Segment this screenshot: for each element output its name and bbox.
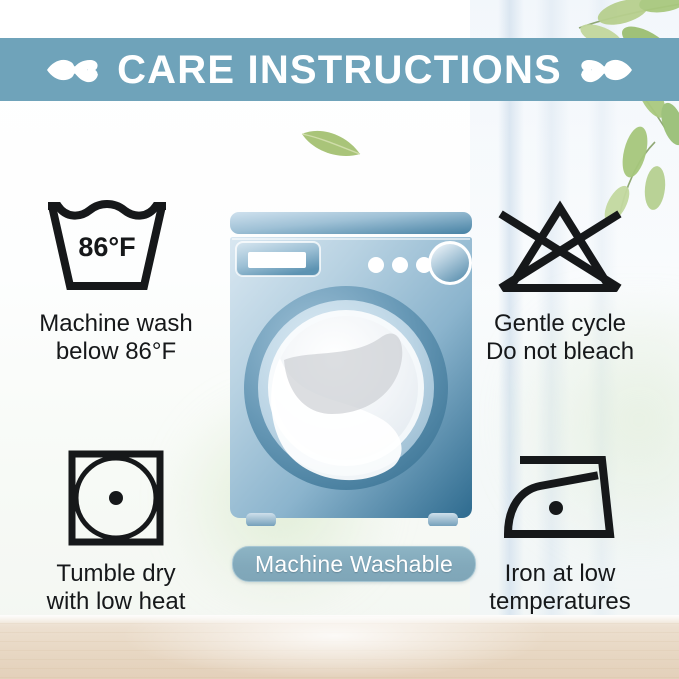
- wash-temperature-label: 86°F: [78, 232, 135, 262]
- wash-tub-symbol: 86°F: [40, 192, 192, 304]
- washer-top-lid: [230, 212, 472, 234]
- crossed-triangle-do-not-bleach-icon: [484, 196, 636, 300]
- floating-leaf-icon: [300, 124, 362, 160]
- do-not-bleach-symbol: [484, 192, 636, 304]
- care-caption: Tumble dry with low heat: [47, 560, 186, 616]
- leaf-cluster-icon: [505, 0, 679, 222]
- tumble-dry-low-heat-icon: [64, 446, 168, 550]
- care-item-tumble-dry: Tumble dry with low heat: [8, 442, 224, 616]
- care-caption: Gentle cycle Do not bleach: [486, 310, 634, 366]
- care-item-do-not-bleach: Gentle cycle Do not bleach: [452, 192, 668, 366]
- page-title: CARE INSTRUCTIONS: [117, 50, 562, 90]
- tumble-dry-symbol: [64, 442, 168, 554]
- washer-detergent-drawer: [236, 242, 320, 276]
- iron-symbol: [494, 442, 626, 554]
- washer-door: [244, 286, 448, 490]
- washer-control-buttons: [368, 257, 432, 273]
- care-item-iron: Iron at low temperatures: [452, 442, 668, 616]
- badge-label: Machine Washable: [255, 551, 453, 578]
- machine-washable-badge: Machine Washable: [232, 546, 476, 582]
- care-instructions-infographic: CARE INSTRUCTIONS 86°F Machine wash belo…: [0, 0, 679, 679]
- background-table-highlight: [120, 617, 550, 679]
- fleur-de-lis-icon: [43, 47, 99, 93]
- care-item-machine-wash: 86°F Machine wash below 86°F: [8, 192, 224, 366]
- header-banner: CARE INSTRUCTIONS: [0, 38, 679, 101]
- iron-low-temperature-icon: [494, 446, 626, 550]
- fleur-de-lis-icon: [580, 47, 636, 93]
- care-caption: Machine wash below 86°F: [39, 310, 192, 366]
- wash-tub-icon: 86°F: [40, 196, 192, 300]
- washing-machine-illustration: [228, 208, 474, 526]
- care-caption: Iron at low temperatures: [489, 560, 630, 616]
- washer-dial-knob: [428, 241, 472, 285]
